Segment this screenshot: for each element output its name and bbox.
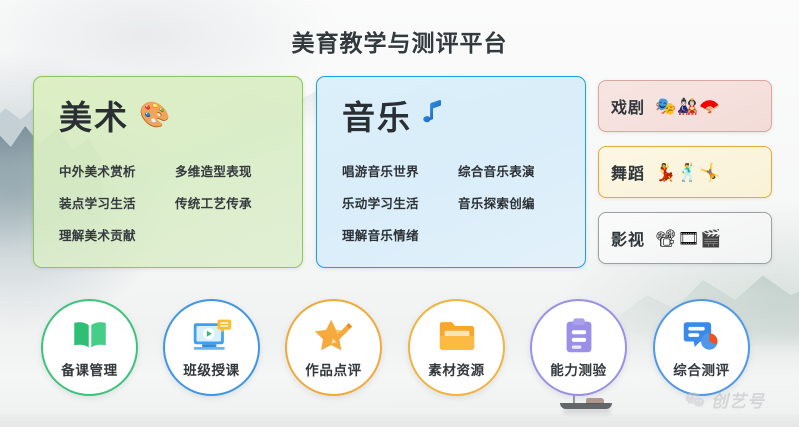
platform-poster: 美育教学与测评平台 美术 🎨 中外美术赏析 多维造型表现 装点学习生活 传统工艺… bbox=[0, 0, 799, 427]
dancer-icon: 💃🕺🤸 bbox=[655, 164, 722, 181]
ink-wash-boat-icon bbox=[560, 397, 612, 410]
palette-icon: 🎨 bbox=[139, 103, 170, 128]
subject-item[interactable]: 中外美术赏析 bbox=[59, 161, 167, 180]
subject-title-art: 美术 bbox=[59, 91, 129, 139]
folder-icon bbox=[436, 316, 478, 356]
subject-card-label: 戏剧 bbox=[611, 94, 645, 118]
clipboard-icon bbox=[558, 316, 600, 356]
subject-card-drama[interactable]: 戏剧 🎭🎎🪭 bbox=[598, 80, 772, 132]
subject-item[interactable]: 音乐探索创编 bbox=[458, 193, 566, 212]
subject-item[interactable]: 唱游音乐世界 bbox=[342, 161, 450, 180]
subject-item[interactable]: 综合音乐表演 bbox=[458, 161, 566, 180]
module-label: 能力测验 bbox=[550, 359, 606, 379]
music-note-icon bbox=[422, 99, 444, 131]
subject-item[interactable]: 乐动学习生活 bbox=[342, 193, 450, 212]
module-label: 素材资源 bbox=[428, 359, 484, 379]
watermark: 创艺号 bbox=[685, 387, 765, 412]
subject-header-music: 音乐 bbox=[342, 91, 444, 139]
subject-item[interactable]: 理解美术贡献 bbox=[59, 225, 167, 244]
subject-item-list-music: 唱游音乐世界 综合音乐表演 乐动学习生活 音乐探索创编 理解音乐情绪 bbox=[342, 161, 566, 244]
open-book-icon bbox=[69, 316, 111, 356]
subject-item[interactable]: 多维造型表现 bbox=[175, 161, 283, 180]
watermark-text: 创艺号 bbox=[711, 387, 765, 412]
module-label: 作品点评 bbox=[305, 359, 361, 379]
subject-header-art: 美术 🎨 bbox=[59, 91, 170, 139]
film-camera-icon: 📽🎞🎬 bbox=[655, 230, 722, 247]
module-label: 班级授课 bbox=[183, 359, 239, 379]
page-title: 美育教学与测评平台 bbox=[0, 24, 799, 58]
module-class-teach[interactable]: 班级授课 bbox=[163, 299, 260, 396]
subject-title-music: 音乐 bbox=[342, 91, 412, 139]
star-pencil-icon bbox=[313, 316, 355, 356]
subject-card-film[interactable]: 影视 📽🎞🎬 bbox=[598, 212, 772, 264]
drama-masks-icon: 🎭🎎🪭 bbox=[655, 98, 722, 115]
module-resources[interactable]: 素材资源 bbox=[408, 299, 505, 396]
subject-card-label: 影视 bbox=[611, 226, 645, 250]
wechat-icon bbox=[685, 391, 705, 408]
subject-card-label: 舞蹈 bbox=[611, 160, 645, 184]
subject-item[interactable]: 理解音乐情绪 bbox=[342, 225, 450, 244]
subject-item[interactable]: 传统工艺传承 bbox=[175, 193, 283, 212]
subject-panel-music[interactable]: 音乐 唱游音乐世界 综合音乐表演 乐动学习生活 音乐探索创编 理解音乐情绪 bbox=[316, 76, 586, 268]
subject-panel-art[interactable]: 美术 🎨 中外美术赏析 多维造型表现 装点学习生活 传统工艺传承 理解美术贡献 bbox=[33, 76, 303, 268]
subject-item[interactable]: 装点学习生活 bbox=[59, 193, 167, 212]
module-label: 备课管理 bbox=[61, 359, 117, 379]
module-assessment[interactable]: 综合测评 bbox=[653, 299, 750, 396]
module-label: 综合测评 bbox=[673, 359, 729, 379]
bottom-strip bbox=[0, 414, 799, 427]
subject-card-dance[interactable]: 舞蹈 💃🕺🤸 bbox=[598, 146, 772, 198]
module-lesson-prep[interactable]: 备课管理 bbox=[41, 299, 138, 396]
module-ability-test[interactable]: 能力测验 bbox=[530, 299, 627, 396]
chart-card-icon bbox=[681, 316, 723, 356]
monitor-play-icon bbox=[191, 316, 233, 356]
module-work-review[interactable]: 作品点评 bbox=[285, 299, 382, 396]
subject-item-list-art: 中外美术赏析 多维造型表现 装点学习生活 传统工艺传承 理解美术贡献 bbox=[59, 161, 283, 244]
